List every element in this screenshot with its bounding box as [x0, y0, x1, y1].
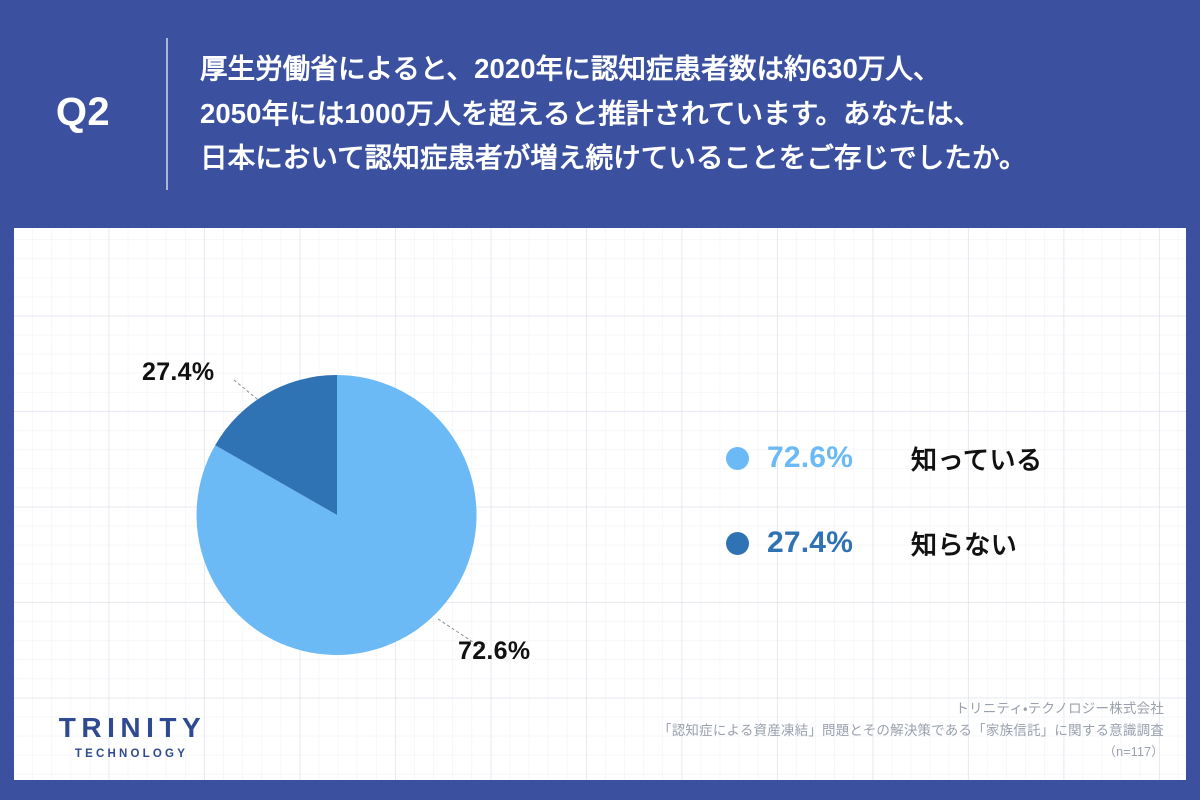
- legend-percent: 27.4%: [767, 526, 889, 560]
- pie-callout-label-1: 72.6%: [458, 637, 530, 666]
- logo-wordmark: TRINITY: [32, 713, 228, 742]
- callout-leader-line-2: [234, 380, 280, 418]
- pie-slice-知っている: [197, 375, 477, 655]
- legend-percent: 72.6%: [767, 441, 889, 475]
- question-header: Q2 厚生労働省によると、2020年に認知症患者数は約630万人、 2050年に…: [0, 0, 1200, 228]
- credit-company: トリニティ・テクノロジー株式会社: [658, 698, 1164, 720]
- credit-survey-title: 「認知症による資産凍結」問題とその解決策である「家族信託」に関する意識調査: [658, 720, 1164, 742]
- legend-color-swatch-icon: [726, 447, 749, 470]
- pie-callout-label-2: 27.4%: [142, 358, 214, 387]
- trinity-logo: TRINITY TECHNOLOGY: [32, 713, 228, 760]
- callout-leader-line-1: [438, 619, 482, 648]
- legend-label: 知らない: [911, 525, 1017, 562]
- credit-sample-size: （n=117）: [658, 742, 1164, 762]
- chart-legend: 72.6% 知っている 27.4% 知らない: [726, 438, 1146, 563]
- legend-color-swatch-icon: [726, 532, 749, 555]
- pie-slice-知らない: [215, 375, 337, 515]
- question-text: 厚生労働省によると、2020年に認知症患者数は約630万人、 2050年には10…: [168, 47, 1200, 181]
- header-divider: [166, 38, 168, 190]
- survey-credit: トリニティ・テクノロジー株式会社 「認知症による資産凍結」問題とその解決策である…: [658, 698, 1164, 762]
- chart-card: 72.6% 27.4% 72.6% 知っている 27.4% 知らない TRINI…: [14, 228, 1186, 780]
- legend-label: 知っている: [911, 440, 1043, 477]
- question-number: Q2: [0, 92, 166, 136]
- slide-root: Q2 厚生労働省によると、2020年に認知症患者数は約630万人、 2050年に…: [0, 0, 1200, 800]
- logo-tagline: TECHNOLOGY: [32, 748, 228, 760]
- legend-item-0[interactable]: 72.6% 知っている: [726, 438, 1146, 478]
- legend-item-1[interactable]: 27.4% 知らない: [726, 523, 1146, 563]
